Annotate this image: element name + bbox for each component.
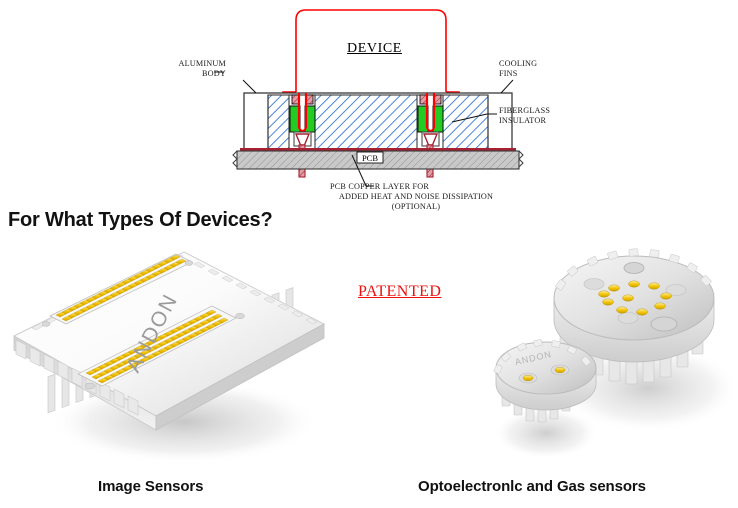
callout-line: ALUMINUM xyxy=(150,59,226,69)
callout-line: BODY xyxy=(150,69,226,79)
callout-pcb-copper-layer: PCB COPPER LAYER FOR ADDED HEAT AND NOIS… xyxy=(306,182,526,212)
callout-line: FIBERGLASS xyxy=(499,106,550,116)
callout-line: FINS xyxy=(499,69,537,79)
page-title: For What Types Of Devices? xyxy=(8,209,273,232)
device-label: DEVICE xyxy=(347,41,402,57)
image-sensor-package-render: ANDON xyxy=(6,240,336,470)
callout-line: PCB COPPER LAYER FOR xyxy=(306,182,526,192)
optoelectronic-gas-sensor-render: ANDON xyxy=(468,228,734,474)
callout-line: COOLING xyxy=(499,59,537,69)
callout-line: INSULATOR xyxy=(499,116,550,126)
caption-optoelectronic-gas-sensors: Optoelectronlc and Gas sensors xyxy=(418,478,646,495)
callout-aluminum-body: ALUMINUM BODY xyxy=(150,59,226,79)
callout-line: ADDED HEAT AND NOISE DISSIPATION xyxy=(306,192,526,202)
pcb-inline-label: PCB xyxy=(357,152,383,163)
caption-image-sensors: Image Sensors xyxy=(98,478,203,495)
patented-badge: PATENTED xyxy=(358,283,441,301)
callout-line: (OPTIONAL) xyxy=(306,202,526,212)
svg-text:PCB: PCB xyxy=(362,153,378,163)
callout-cooling-fins: COOLING FINS xyxy=(499,59,537,79)
slide-canvas: PCB DEVICE ALUMINUM BODY COOLING FINS FI… xyxy=(0,0,738,508)
callout-fiberglass-insulator: FIBERGLASS INSULATOR xyxy=(499,106,550,126)
